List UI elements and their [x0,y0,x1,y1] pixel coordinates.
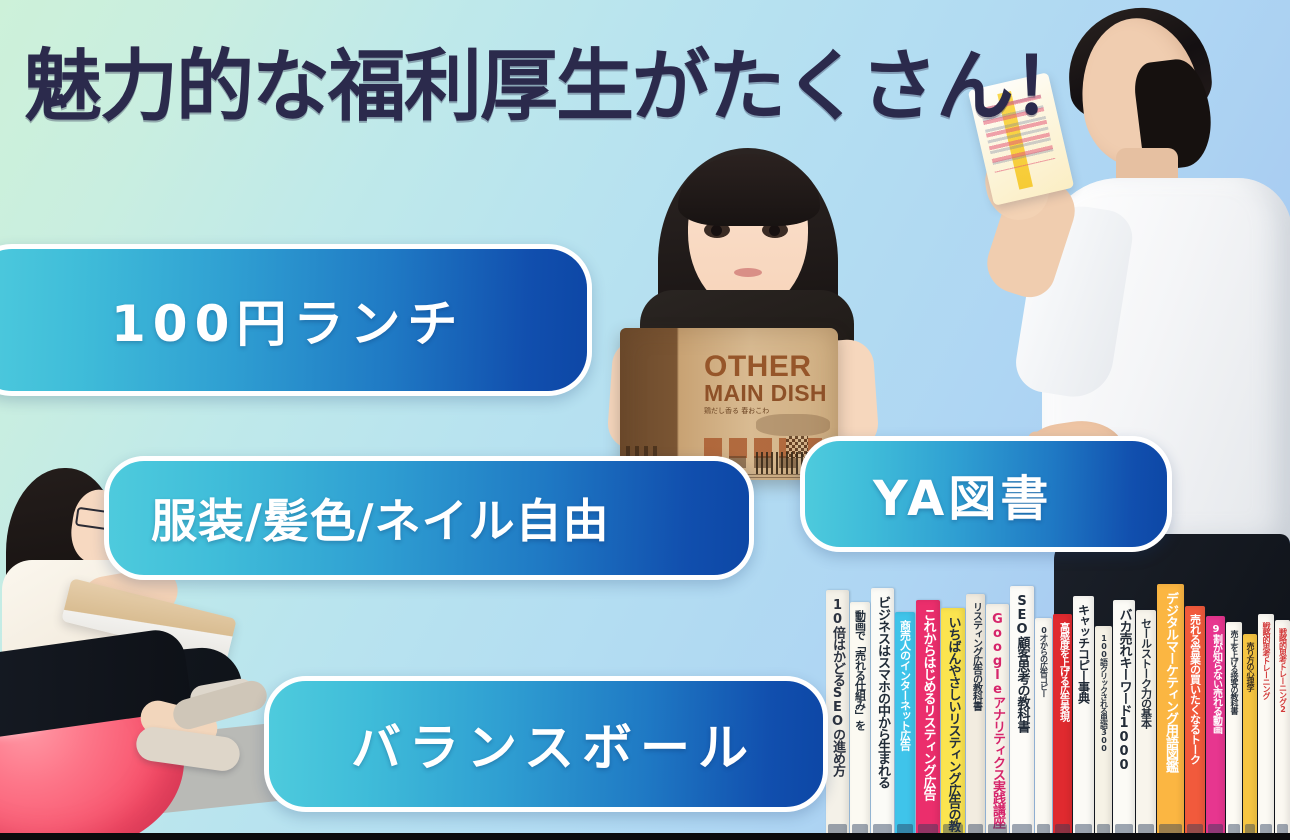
book-spine-title: 売り方の心理学 [1243,642,1257,832]
benefit-label-dress-code: 服装/髪色/ネイル自由 [151,485,610,551]
benefits-banner: OTHER MAIN DISH 鶏だし香る 春おこわ 10倍はかどるSEOの進 [0,0,1290,840]
pouch-brand-line-1: OTHER [704,352,812,382]
photo-woman-with-meal-pouch: OTHER MAIN DISH 鶏だし香る 春おこわ [600,140,890,480]
benefit-pill-dress-code[interactable]: 服装/髪色/ネイル自由 [104,456,754,580]
book-spine-title: 売れる営業の買いたくなるトーク [1185,614,1205,832]
bottom-letterbox-bar [0,833,1290,840]
book-spine: 戦略的思考トレーニング2 [1275,620,1290,840]
book-spine-title: 高感度を上げる広告表現 [1053,622,1072,832]
book-spine-title: 100語クリックされる単語300 [1095,634,1112,832]
book-spine-title: いちばんやさしいリスティング広告の教本 [941,616,965,832]
book-spine: これからはじめるリスティング広告 [916,600,940,840]
book-spine-title: キャッチコピー事典 [1073,604,1094,832]
book-spine: 売れる営業の買いたくなるトーク [1185,606,1205,840]
benefit-label-balance-ball: バランスボール [351,708,756,780]
book-spine: キャッチコピー事典 [1073,596,1094,840]
book-spine: 商売人のインターネット広告 [895,612,915,840]
benefit-pill-balance-ball[interactable]: バランスボール [264,676,828,812]
book-spine-title: 0才からの広告コピー [1035,626,1052,832]
book-spine: SEO顧客思考の教科書 [1010,586,1034,840]
benefit-pill-lunch[interactable]: 100円ランチ [0,244,592,396]
book-spine-title: ビジネスはスマホの中から生まれる [871,596,894,832]
benefit-label-ya-books: YA図書 [873,459,1052,529]
woman-lips [734,268,762,277]
book-spine: 10倍はかどるSEOの進め方 [826,590,849,840]
book-spine: リスティング広告の教科書 [966,594,985,840]
book-spine: 売上を上げる接客の教科書 [1226,622,1242,840]
book-spine: バカ売れキーワード1000 [1113,600,1135,840]
book-spine-title: これからはじめるリスティング広告 [916,608,940,832]
book-spine-title: SEO顧客思考の教科書 [1010,594,1034,832]
book-spine: 売り方の心理学 [1243,634,1257,840]
benefit-label-lunch: 100円ランチ [111,284,464,356]
book-spine: 動画で「売れる仕組み」を [850,602,870,840]
book-spine: 0才からの広告コピー [1035,618,1052,840]
book-spine-title: 9割が知らない売れる動画 [1206,624,1225,832]
book-spine: いちばんやさしいリスティング広告の教本 [941,608,965,840]
pouch-subtitle: 鶏だし香る 春おこわ [704,408,769,415]
book-spine: Googleアナリティクス実践講座 [986,604,1009,840]
book-spine: セールストーク力の基本 [1136,610,1156,840]
pouch-label-blob [756,414,830,436]
book-spine: 高感度を上げる広告表現 [1053,614,1072,840]
book-spine: 100語クリックされる単語300 [1095,626,1112,840]
photo-balance-ball [0,620,280,840]
book-spine-title: セールストーク力の基本 [1136,618,1156,832]
bookshelf-row: 10倍はかどるSEOの進め方動画で「売れる仕組み」をビジネスはスマホの中から生ま… [826,548,1290,840]
book-spine-title: Googleアナリティクス実践講座 [986,612,1009,832]
book-spine-title: 商売人のインターネット広告 [895,620,915,832]
book-spine: 戦略的思考トレーニング [1258,614,1274,840]
benefit-pill-ya-books[interactable]: YA図書 [800,436,1172,552]
page-title: 魅力的な福利厚生がたくさん！ [24,48,1088,126]
book-spine: デジタルマーケティング用語図鑑 [1157,584,1184,840]
pouch-brand-line-2: MAIN DISH [704,382,827,405]
book-spine: 9割が知らない売れる動画 [1206,616,1225,840]
book-spine-title: 10倍はかどるSEOの進め方 [826,598,849,832]
book-spine-title: 戦略的思考トレーニング2 [1275,628,1290,832]
book-spine-title: デジタルマーケティング用語図鑑 [1157,592,1184,832]
book-spine-title: 売上を上げる接客の教科書 [1226,630,1242,832]
book-spine-title: リスティング広告の教科書 [966,602,985,832]
book-spine-title: 戦略的思考トレーニング [1258,622,1274,832]
book-spine-title: 動画で「売れる仕組み」を [850,610,870,832]
book-spine-title: バカ売れキーワード1000 [1113,608,1135,832]
book-spine: ビジネスはスマホの中から生まれる [871,588,894,840]
